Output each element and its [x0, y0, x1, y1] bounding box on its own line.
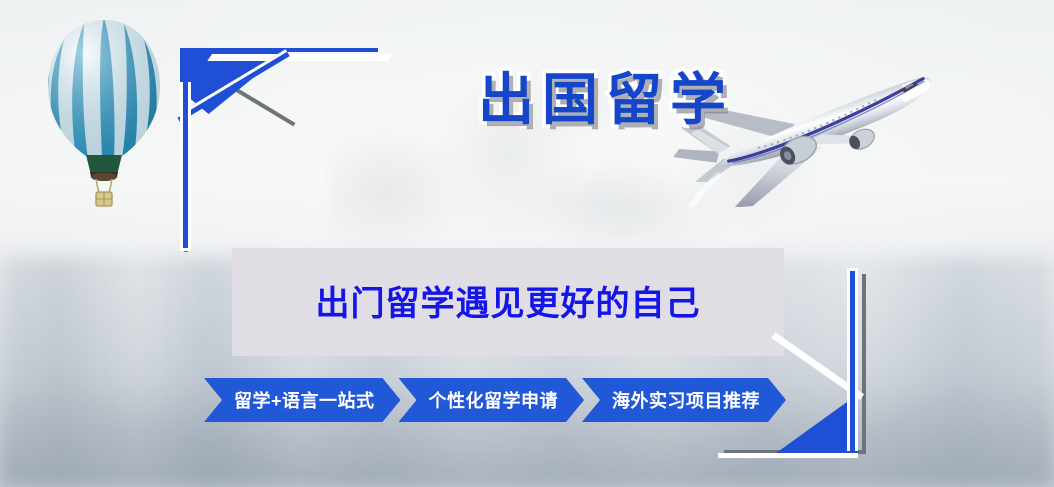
corner-bracket-top-left [150, 22, 410, 252]
bracket-br-shadow-vertical [862, 274, 866, 452]
bracket-top-line [180, 48, 378, 52]
page-title: 出国留学 [478, 72, 734, 128]
feature-tag-2[interactable]: 个性化留学申请 [399, 378, 585, 422]
feature-tag-1-label: 留学+语言一站式 [234, 387, 375, 413]
feature-tag-2-label: 个性化留学申请 [429, 387, 559, 413]
bracket-top-line-highlight [207, 54, 392, 61]
hot-air-balloon-icon [38, 14, 170, 214]
bracket-vertical-line [180, 82, 191, 251]
study-abroad-banner: 出国留学 出门留学遇见更好的自己 留学+语言一站式 个性化留学申请 海外实习项目… [0, 0, 1054, 487]
bracket-br-wedge-icon [772, 394, 858, 456]
feature-tag-1[interactable]: 留学+语言一站式 [204, 378, 401, 422]
bracket-br-vertical-line [847, 268, 858, 451]
corner-bracket-bottom-right [650, 260, 910, 470]
bracket-br-horizontal-line [718, 453, 858, 458]
